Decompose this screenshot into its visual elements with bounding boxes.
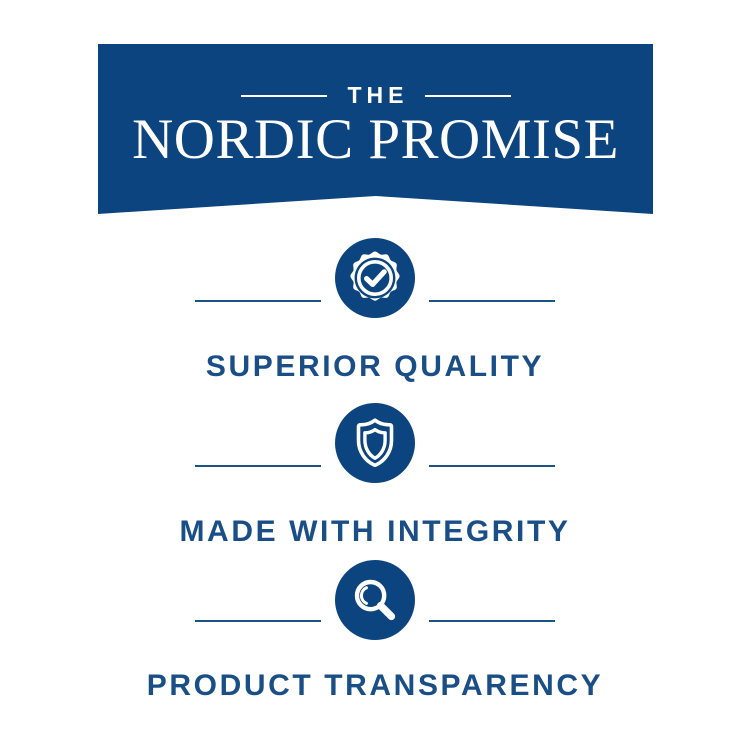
eyebrow-left-rule-icon: [241, 95, 327, 97]
divider-left-line: [195, 620, 321, 622]
promise-label: MADE WITH INTEGRITY: [0, 517, 750, 547]
promise-label: PRODUCT TRANSPARENCY: [0, 671, 750, 701]
promise-graphic-row: [0, 238, 750, 332]
icon-badge: [335, 560, 415, 640]
icon-badge: [335, 403, 415, 483]
banner-eyebrow-text: THE: [343, 84, 409, 107]
eyebrow-right-rule-icon: [425, 95, 511, 97]
promise-label: SUPERIOR QUALITY: [0, 352, 750, 382]
banner: THE NORDIC PROMISE: [98, 44, 653, 214]
divider-left-line: [195, 300, 321, 302]
divider-right-line: [429, 465, 555, 467]
shield-icon: [348, 416, 402, 470]
banner-title: NORDIC PROMISE: [98, 110, 653, 170]
banner-content: THE NORDIC PROMISE: [98, 44, 653, 214]
promise-item-product-transparency: PRODUCT TRANSPARENCY: [0, 558, 750, 701]
banner-eyebrow-row: THE: [98, 84, 653, 107]
nordic-promise-graphic: THE NORDIC PROMISE SUPERIOR QUALIT: [0, 0, 750, 750]
magnifying-glass-icon: [348, 573, 402, 627]
promise-item-made-with-integrity: MADE WITH INTEGRITY: [0, 403, 750, 547]
divider-left-line: [195, 465, 321, 467]
promise-graphic-row: [0, 558, 750, 652]
promise-graphic-row: [0, 403, 750, 497]
divider-right-line: [429, 620, 555, 622]
divider-right-line: [429, 300, 555, 302]
quality-seal-check-icon: [347, 250, 403, 306]
promise-item-superior-quality: SUPERIOR QUALITY: [0, 238, 750, 382]
icon-badge: [335, 238, 415, 318]
